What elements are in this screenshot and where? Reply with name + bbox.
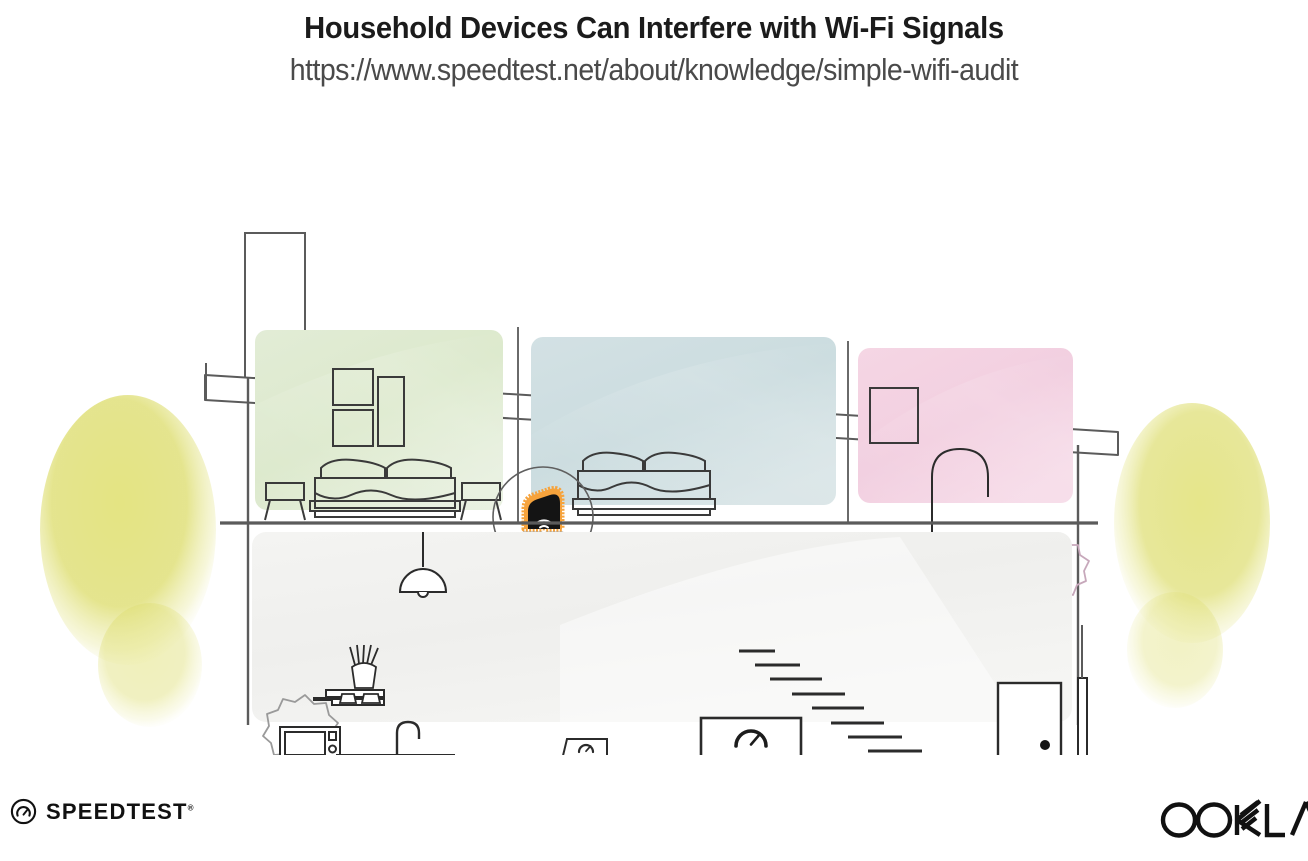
tree-right-icon [1114,403,1270,708]
speedtest-gauge-icon [10,798,37,825]
wifi-router-icon [524,488,562,533]
page-title: Household Devices Can Interfere with Wi-… [39,0,1269,46]
room-bedroom-green [255,330,503,520]
house-illustration: SPEEDTEST [0,105,1308,755]
header: Household Devices Can Interfere with Wi-… [0,0,1308,88]
ookla-logo [1159,796,1308,847]
laptop-speedtest-icon: SPEEDTEST [556,739,614,755]
speedtest-logo: SPEEDTEST® [10,798,194,825]
tree-left-icon [40,395,216,727]
speedtest-wordmark: SPEEDTEST® [46,801,194,823]
front-door-icon[interactable] [998,683,1061,755]
infographic-page: Household Devices Can Interfere with Wi-… [0,0,1308,861]
sink-faucet-icon [397,722,419,755]
ookla-wordmark-icon [1159,796,1308,842]
registered-mark: ® [188,803,194,812]
television-speedtest-icon: SPEEDTEST [701,718,801,755]
footer: SPEEDTEST® [0,790,1308,850]
source-url: https://www.speedtest.net/about/knowledg… [52,46,1255,88]
speedtest-wordmark-text: SPEEDTEST [46,799,188,824]
window-icon [1078,678,1087,755]
bed-icon [310,460,460,517]
room-downstairs: SPEEDTEST [252,532,1087,755]
door-knob-icon [1040,740,1050,750]
microwave-icon [280,727,340,755]
